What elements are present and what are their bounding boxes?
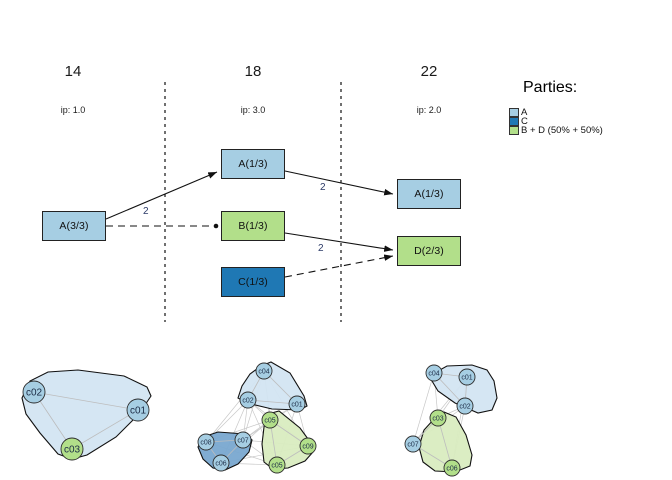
graph-node-label: c02 <box>459 404 470 411</box>
graph-14: c02c01c03 <box>22 370 151 460</box>
graph-node-label: c01 <box>130 406 147 417</box>
graph-node-label: c09 <box>302 444 313 451</box>
graph-node-label: c08 <box>200 440 211 447</box>
graph-node-label: c02 <box>242 398 253 405</box>
graph-node-label: c07 <box>237 438 248 445</box>
graph-node-label: c07 <box>407 442 418 449</box>
graph-node-label: c03 <box>432 416 443 423</box>
graph-node-label: c02 <box>26 388 43 399</box>
graph-node-label: c06 <box>215 461 226 468</box>
graph-node-label: c01 <box>461 375 472 382</box>
graph-18: c04c02c01c08c07c06c05c09c05 <box>198 362 316 473</box>
network-graph-layer: c02c01c03c04c02c01c08c07c06c05c09c05c04c… <box>0 0 672 480</box>
graph-node-label: c03 <box>64 445 81 456</box>
graph-node-label: c05 <box>264 418 275 425</box>
diagram-canvas: 14 ip: 1.0 18 ip: 3.0 22 ip: 2.0 Parties… <box>0 0 672 480</box>
graph-node-label: c06 <box>446 466 457 473</box>
graph-node-label: c05 <box>271 463 282 470</box>
graph-node-label: c01 <box>291 402 302 409</box>
graph-node-label: c04 <box>428 371 439 378</box>
graph-22: c04c01c02c03c07c06 <box>405 365 497 476</box>
graph-node-label: c04 <box>258 369 269 376</box>
